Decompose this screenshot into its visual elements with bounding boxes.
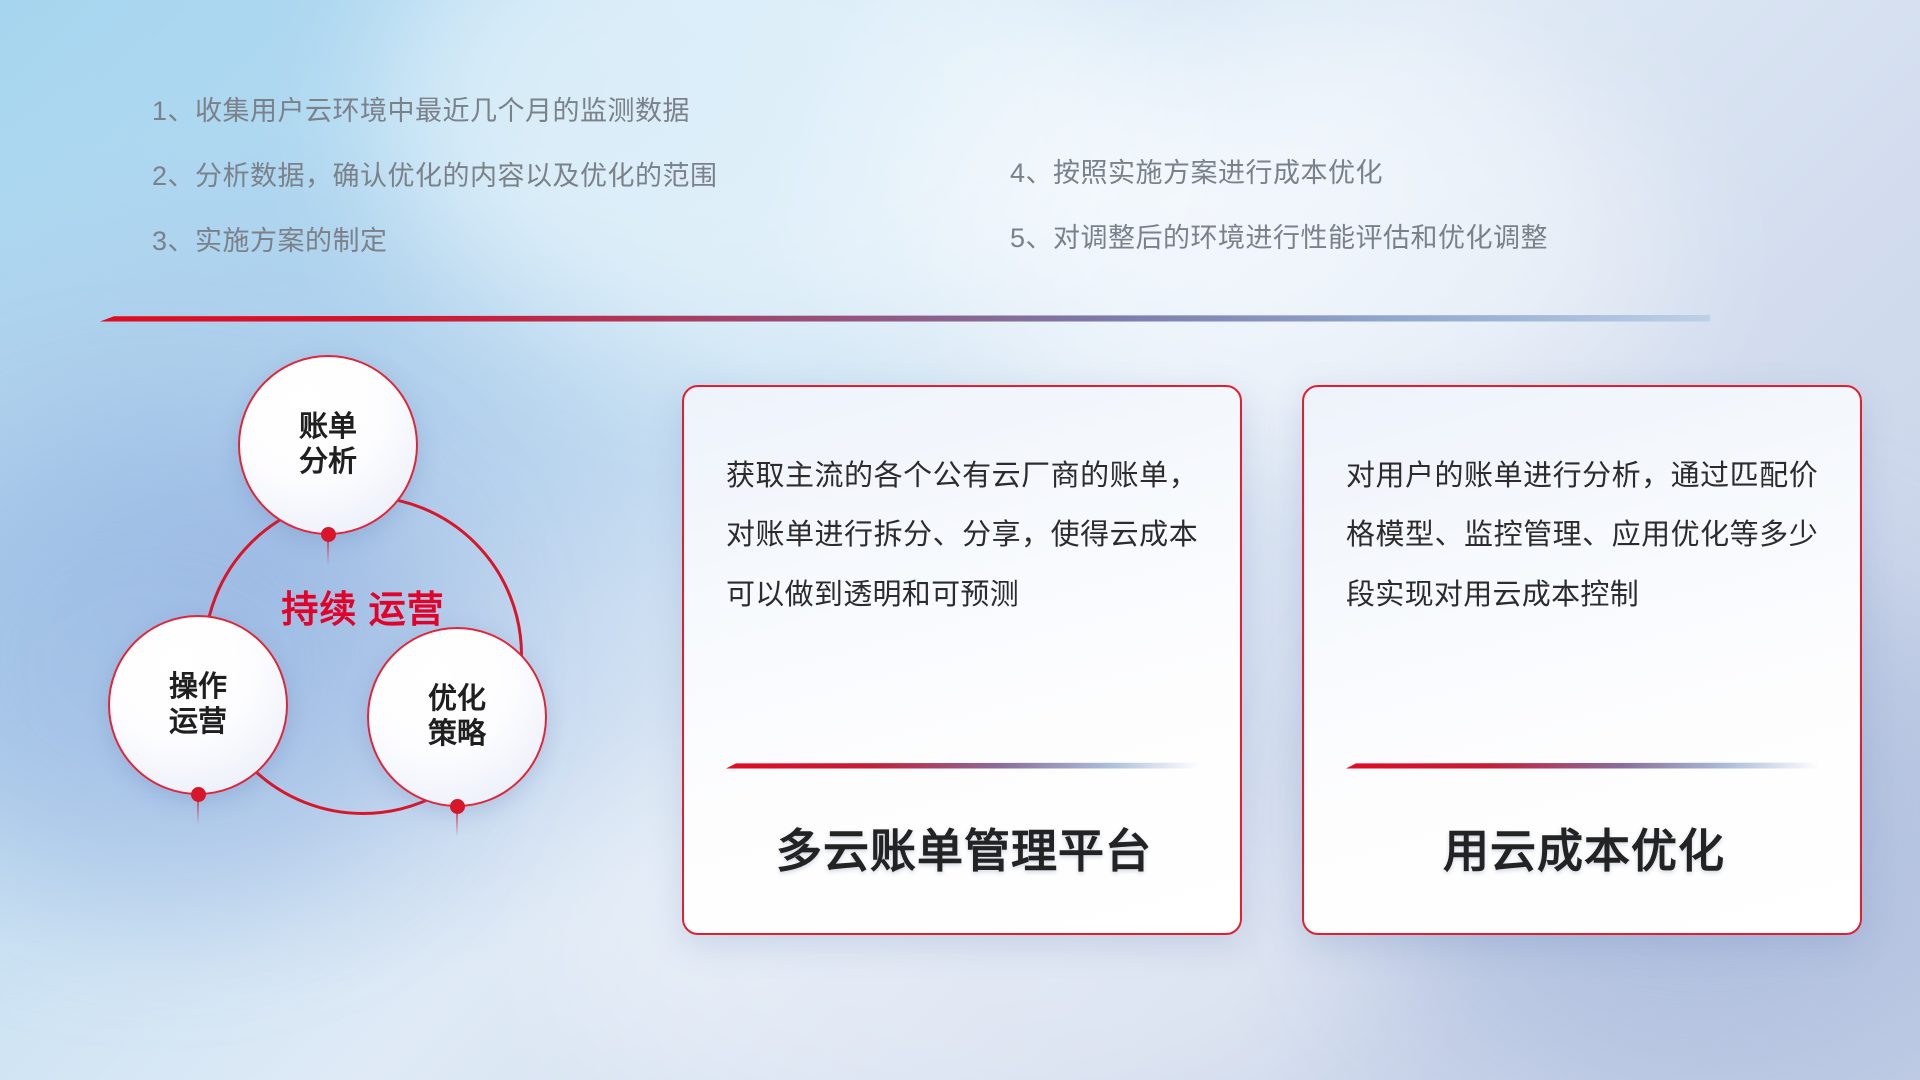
card-2-body: 对用户的账单进行分析，通过匹配价格模型、监控管理、应用优化等多少段实现对用云成本… <box>1346 447 1818 625</box>
continuous-operations-diagram: 持续 运营 账单 分析 操作 运营 优化 策略 <box>95 355 655 955</box>
center-label-line-2: 运营 <box>369 589 445 630</box>
connector-dot-top <box>321 527 336 542</box>
bubble-top-line-2: 分析 <box>299 445 357 480</box>
connector-tail-right <box>456 813 458 837</box>
step-item-2: 2、分析数据，确认优化的内容以及优化的范围 <box>152 163 718 190</box>
bubble-left-line-2: 运营 <box>169 705 227 740</box>
card-2-rule <box>1346 761 1820 770</box>
steps-list-left: 1、收集用户云环境中最近几个月的监测数据 2、分析数据，确认优化的内容以及优化的… <box>152 98 718 255</box>
step-item-5: 5、对调整后的环境进行性能评估和优化调整 <box>1010 225 1548 252</box>
feature-card-multicloud-billing[interactable]: 获取主流的各个公有云厂商的账单，对账单进行拆分、分享，使得云成本可以做到透明和可… <box>682 385 1242 935</box>
card-1-body: 获取主流的各个公有云厂商的账单，对账单进行拆分、分享，使得云成本可以做到透明和可… <box>726 447 1198 625</box>
bubble-right-line-1: 优化 <box>428 682 486 717</box>
diagram-bubble-bill-analysis[interactable]: 账单 分析 <box>238 355 418 535</box>
section-divider <box>100 312 1710 324</box>
feature-card-cloud-cost-optimization[interactable]: 对用户的账单进行分析，通过匹配价格模型、监控管理、应用优化等多少段实现对用云成本… <box>1302 385 1862 935</box>
step-item-3: 3、实施方案的制定 <box>152 228 718 255</box>
step-item-1: 1、收集用户云环境中最近几个月的监测数据 <box>152 98 718 125</box>
bubble-left-line-1: 操作 <box>169 670 227 705</box>
card-1-rule <box>726 761 1200 770</box>
card-2-title: 用云成本优化 <box>1346 815 1822 881</box>
connector-dot-left <box>191 787 206 802</box>
center-label-line-1: 持续 <box>281 589 357 630</box>
diagram-bubble-optimization-strategy[interactable]: 优化 策略 <box>367 627 547 807</box>
connector-tail-top <box>327 541 329 565</box>
connector-dot-right <box>450 799 465 814</box>
card-1-title: 多云账单管理平台 <box>726 815 1202 881</box>
diagram-center-label: 持续 运营 <box>203 587 523 632</box>
step-item-4: 4、按照实施方案进行成本优化 <box>1010 160 1548 187</box>
slide-canvas: 1、收集用户云环境中最近几个月的监测数据 2、分析数据，确认优化的内容以及优化的… <box>0 0 1920 1080</box>
steps-list-right: 4、按照实施方案进行成本优化 5、对调整后的环境进行性能评估和优化调整 <box>1010 160 1548 252</box>
bubble-top-line-1: 账单 <box>299 410 357 445</box>
bubble-right-line-2: 策略 <box>428 717 486 752</box>
diagram-bubble-operations[interactable]: 操作 运营 <box>108 615 288 795</box>
connector-tail-left <box>197 801 199 825</box>
